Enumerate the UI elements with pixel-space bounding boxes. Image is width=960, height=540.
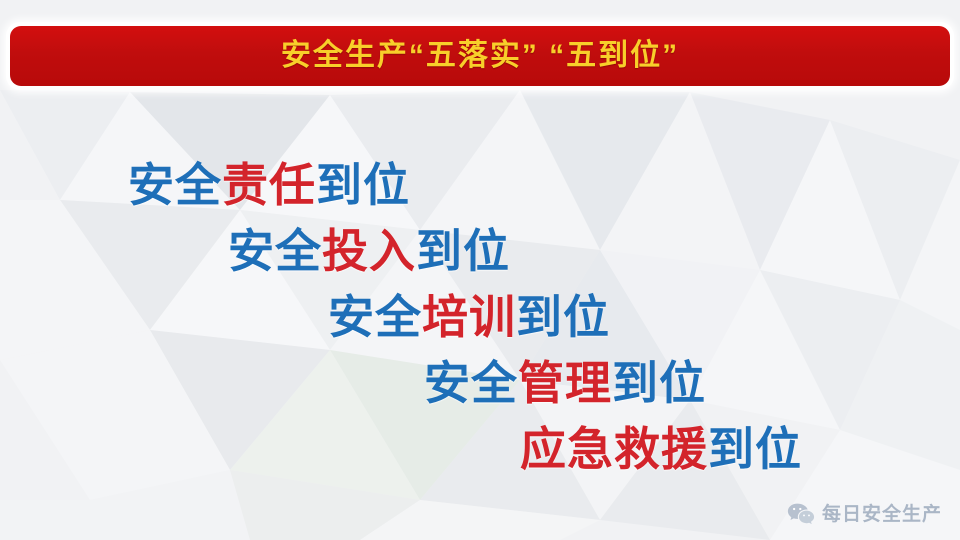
slogan-1-highlight: 责任 [222, 159, 316, 211]
slide-canvas: 安全生产“五落实” “五到位” 安全责任到位 安全投入到位 安全培训到位 安全管… [0, 0, 960, 540]
slogan-2-suffix: 到位 [416, 225, 510, 277]
slogan-2-prefix: 安全 [228, 225, 322, 277]
slogan-1-suffix: 到位 [316, 159, 410, 211]
slogan-line-2: 安全投入到位 [0, 218, 960, 284]
slogan-list: 安全责任到位 安全投入到位 安全培训到位 安全管理到位 应急救援到位 [0, 152, 960, 482]
slogan-line-3: 安全培训到位 [0, 284, 960, 350]
watermark: 每日安全生产 [787, 502, 942, 526]
slogan-5-suffix: 到位 [708, 423, 802, 475]
title-banner-frame: 安全生产“五落实” “五到位” [6, 22, 954, 90]
slogan-4-highlight: 管理 [518, 357, 612, 409]
slogan-3-highlight: 培训 [422, 291, 516, 343]
page-title: 安全生产“五落实” “五到位” [281, 41, 679, 71]
slogan-1-prefix: 安全 [128, 159, 222, 211]
slogan-2-highlight: 投入 [322, 225, 416, 277]
slogan-4-prefix: 安全 [424, 357, 518, 409]
watermark-label: 每日安全生产 [822, 505, 942, 524]
slogan-3-prefix: 安全 [328, 291, 422, 343]
slogan-line-4: 安全管理到位 [0, 350, 960, 416]
slogan-line-5: 应急救援到位 [0, 416, 960, 482]
title-banner: 安全生产“五落实” “五到位” [10, 26, 950, 86]
wechat-icon [787, 502, 815, 526]
slogan-5-highlight: 应急救援 [520, 423, 708, 475]
slogan-line-1: 安全责任到位 [0, 152, 960, 218]
slogan-3-suffix: 到位 [516, 291, 610, 343]
slogan-4-suffix: 到位 [612, 357, 706, 409]
